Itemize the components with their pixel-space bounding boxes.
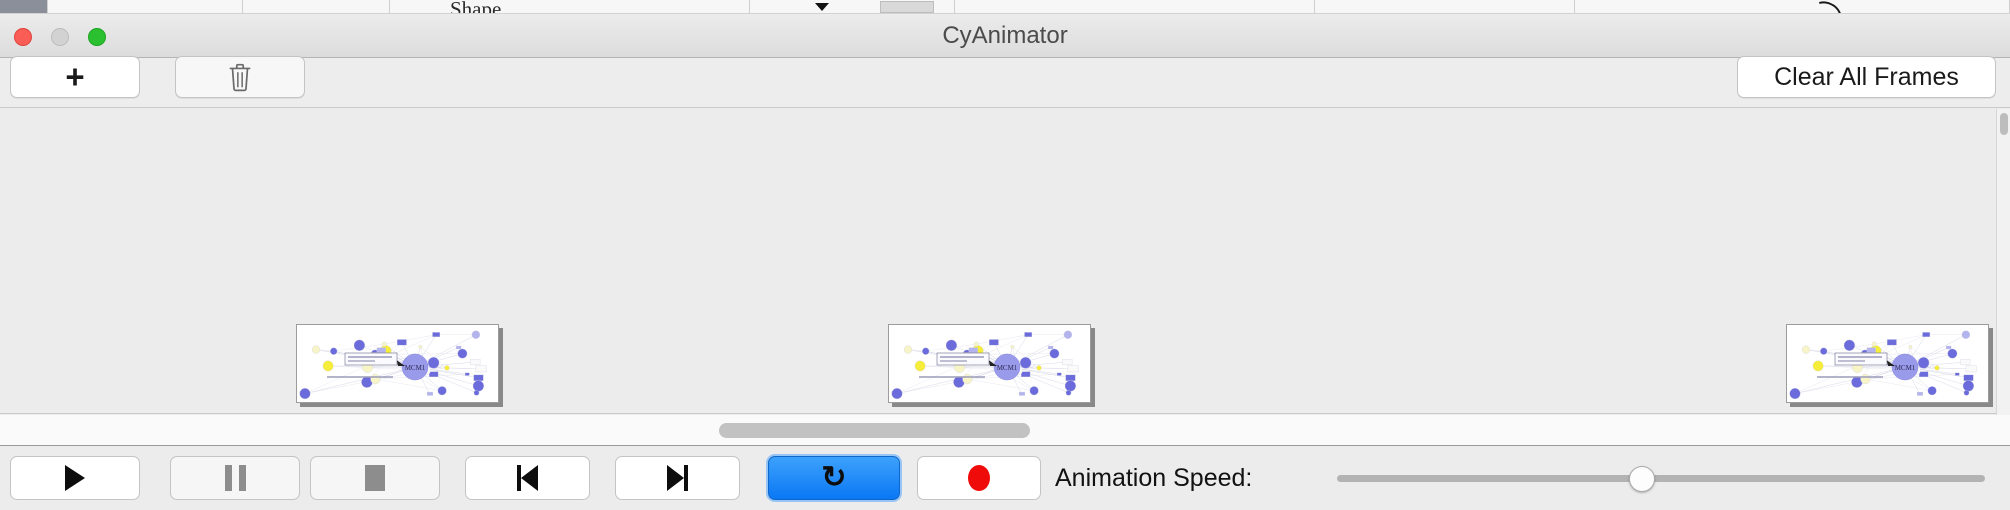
svg-text:MCM1: MCM1 xyxy=(405,364,426,372)
animation-speed-label: Animation Speed: xyxy=(1055,456,1252,500)
record-button[interactable] xyxy=(917,456,1041,500)
loop-button[interactable]: ↻ xyxy=(768,456,900,500)
svg-text:MCM1: MCM1 xyxy=(997,364,1018,372)
skip-to-end-button[interactable] xyxy=(615,456,740,500)
skip-forward-icon xyxy=(667,465,688,491)
timeline-frame-thumbnail[interactable]: MCM1 xyxy=(1786,324,1989,403)
cyanimator-window: Shape CyAnimator + Clear All Frames MCM1… xyxy=(0,0,2010,510)
background-app-label: Shape xyxy=(450,0,501,14)
timeline-frame-thumbnail[interactable]: MCM1 xyxy=(296,324,499,403)
pause-button[interactable] xyxy=(170,456,300,500)
background-app-strip: Shape xyxy=(0,0,2010,14)
animation-speed-slider[interactable] xyxy=(1337,475,1985,482)
record-icon xyxy=(968,465,990,491)
title-bar: CyAnimator xyxy=(0,14,2010,58)
loop-icon: ↻ xyxy=(821,463,846,493)
clear-all-frames-button[interactable]: Clear All Frames xyxy=(1737,56,1996,98)
timeline-vertical-scrollbar[interactable] xyxy=(1996,109,2010,415)
timeline-horizontal-scrollbar[interactable] xyxy=(0,415,2010,446)
stop-button[interactable] xyxy=(310,456,440,500)
stop-icon xyxy=(365,465,385,491)
animation-speed-slider-thumb[interactable] xyxy=(1629,466,1655,492)
background-caret-icon xyxy=(815,3,829,11)
skip-backward-icon xyxy=(517,465,538,491)
timeline-horizontal-scrollbar-thumb[interactable] xyxy=(719,423,1030,438)
plus-icon: + xyxy=(65,64,84,90)
skip-to-start-button[interactable] xyxy=(465,456,590,500)
delete-frame-button[interactable] xyxy=(175,56,305,98)
timeline-vertical-scrollbar-thumb[interactable] xyxy=(2000,113,2008,135)
timeline-frame-thumbnail[interactable]: MCM1 xyxy=(888,324,1091,403)
svg-text:MCM1: MCM1 xyxy=(1895,364,1916,372)
background-swatch xyxy=(880,1,934,13)
timeline-panel[interactable]: MCM1MCM1MCM1 12131415161718 Seconds xyxy=(0,109,2010,414)
add-frame-button[interactable]: + xyxy=(10,56,140,98)
trash-icon xyxy=(227,62,253,92)
clear-all-frames-label: Clear All Frames xyxy=(1774,63,1959,92)
play-button[interactable] xyxy=(10,456,140,500)
playback-control-bar: ↻ Animation Speed: xyxy=(0,447,2010,510)
window-title: CyAnimator xyxy=(0,14,2010,58)
pause-icon xyxy=(225,465,246,491)
play-icon xyxy=(65,465,85,491)
